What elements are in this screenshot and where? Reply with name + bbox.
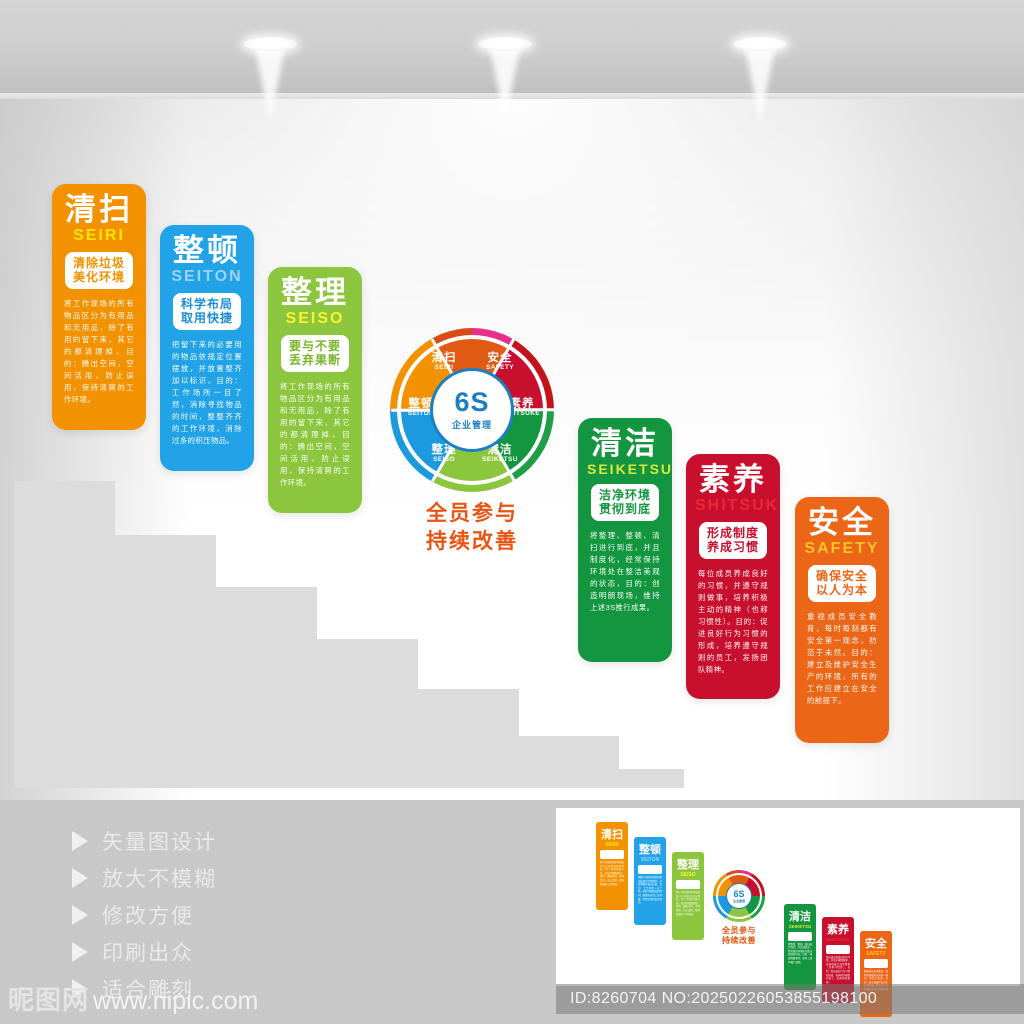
thumb-slogan <box>864 959 888 968</box>
stair-step <box>519 736 619 788</box>
triangle-bullet-icon <box>72 905 88 925</box>
card-title-en: SHITSUKE <box>695 497 771 515</box>
thumb-title-cn: 安全 <box>865 938 887 950</box>
card-title-cn: 整顿 <box>169 235 245 267</box>
stair-step <box>216 587 317 788</box>
thumb-title-en: SEISO <box>674 873 702 878</box>
wheel-center-title: 6S <box>454 389 489 416</box>
wheel-caption: 全员参与 持续改善 <box>390 500 554 555</box>
card-title-cn: 整理 <box>277 277 353 309</box>
card-body-text: 将工作现场的所有物品区分为有用品和无用品，除了有用的留下来，其它的都清理掉，目的… <box>277 381 353 489</box>
thumb-title-en: SEITON <box>636 858 664 863</box>
thumb-body: 将工作现场的所有物品区分为有用品和无用品，除了有用的留下来，其它的都清理掉，目的… <box>674 891 702 916</box>
thumb-wheel-caption: 全员参与 持续改善 <box>704 926 774 947</box>
stair-step <box>115 535 216 788</box>
card-body-text: 每位成员养成良好的习惯，并遵守规则做事，培养积极主动的精神（也称习惯性）。目的：… <box>695 568 771 676</box>
card-slogan-line2: 贯彻到底 <box>599 502 651 516</box>
feature-label: 印刷出众 <box>102 937 194 967</box>
card-slogan-line1: 要与不要 <box>289 339 341 353</box>
ceiling-spotlight-2 <box>478 37 532 51</box>
card-body-text: 把留下来的必要用的物品依规定位置摆放，并放置整齐加以标识，目的：工作场所一目了然… <box>169 339 245 447</box>
image-id-bar: ID:8260704 NO:20250226053855198100 <box>556 984 1024 1014</box>
thumb-wheel-center-subtitle: 企业管理 <box>733 899 745 903</box>
spotlight-beam-1 <box>254 44 286 122</box>
thumb-caption-line2: 持续改善 <box>704 936 774 946</box>
thumb-slogan <box>638 865 662 874</box>
wheel-caption-line1: 全员参与 <box>390 500 554 528</box>
card-slogan: 洁净环境 贯彻到底 <box>591 484 659 521</box>
thumb-body: 将整理、整顿、清扫进行到底，并且制度化，经常保持环境处在整洁美观的状态，目的：创… <box>786 943 814 965</box>
thumb-card-seiton: 整顿 SEITON 把留下来的必要用的物品依规定位置摆放，并放置整齐加以标识，目… <box>634 837 666 925</box>
thumb-card-seiketsu: 清洁 SEIKETSU 将整理、整顿、清扫进行到底，并且制度化，经常保持环境处在… <box>784 904 816 990</box>
thumb-title-en: SEIKETSU <box>786 925 814 930</box>
card-slogan-line2: 取用快捷 <box>181 311 233 325</box>
card-title-cn: 安全 <box>804 507 880 539</box>
wall-mockup-scene: 清扫 SEIRI 清除垃圾 美化环境 将工作现场的所有物品区分为有用品和无用品，… <box>0 0 1024 800</box>
card-slogan-line1: 确保安全 <box>816 569 868 583</box>
card-slogan-line2: 美化环境 <box>73 270 125 284</box>
list-item: 矢量图设计 <box>72 822 217 859</box>
card-body-text: 将工作现场的所有物品区分为有用品和无用品，除了有用的留下来，其它的都清理掉，目的… <box>61 298 137 406</box>
watermark: 昵图网 www.nipic.com <box>8 980 258 1017</box>
wheel-segment-label-cn: 清扫 <box>416 352 472 364</box>
card-slogan: 形成制度 养成习惯 <box>699 522 767 559</box>
watermark-site-name: 昵图网 <box>8 980 89 1017</box>
thumb-body: 将工作现场的所有物品区分为有用品和无用品，除了有用的留下来，其它的都清理掉，目的… <box>598 861 626 886</box>
card-slogan-line2: 养成习惯 <box>707 540 759 554</box>
thumbnail-preview[interactable]: 清扫 SEIRI 将工作现场的所有物品区分为有用品和无用品，除了有用的留下来，其… <box>556 808 1020 986</box>
wheel-caption-line2: 持续改善 <box>390 528 554 556</box>
card-shitsuke[interactable]: 素养 SHITSUKE 形成制度 养成习惯 每位成员养成良好的习惯，并遵守规则做… <box>686 454 780 699</box>
triangle-bullet-icon <box>72 831 88 851</box>
card-slogan-line2: 丢弃果断 <box>289 353 341 367</box>
card-slogan: 科学布局 取用快捷 <box>173 293 241 330</box>
thumb-title-cn: 整顿 <box>639 844 661 856</box>
card-title-cn: 清洁 <box>587 428 663 460</box>
thumb-title-en: SAFETY <box>862 952 890 957</box>
thumb-title-cn: 素养 <box>827 924 849 936</box>
ceiling-spotlight-1 <box>243 37 297 51</box>
list-item: 放大不模糊 <box>72 859 217 896</box>
card-title-en: SEIKETSU <box>587 461 663 477</box>
card-slogan-line1: 清除垃圾 <box>73 256 125 270</box>
card-slogan-line2: 以人为本 <box>816 583 868 597</box>
stair-step <box>418 689 519 788</box>
card-slogan: 确保安全 以人为本 <box>808 565 876 602</box>
thumb-body: 把留下来的必要用的物品依规定位置摆放，并放置整齐加以标识，目的：工作场所一目了然… <box>636 876 664 905</box>
card-title-en: SEIRI <box>61 227 137 245</box>
wheel-center-subtitle: 企业管理 <box>452 418 492 431</box>
triangle-bullet-icon <box>72 942 88 962</box>
card-seiton[interactable]: 整顿 SEITON 科学布局 取用快捷 把留下来的必要用的物品依规定位置摆放，并… <box>160 225 254 471</box>
watermark-url: www.nipic.com <box>93 987 258 1016</box>
card-safety[interactable]: 安全 SAFETY 确保安全 以人为本 重视成员安全教育，每时每刻都有安全第一观… <box>795 497 889 743</box>
ceiling-spotlight-3 <box>733 37 787 51</box>
thumb-title-cn: 整理 <box>677 859 699 871</box>
thumb-slogan <box>826 945 850 954</box>
screenshot-root: 清扫 SEIRI 清除垃圾 美化环境 将工作现场的所有物品区分为有用品和无用品，… <box>0 0 1024 1024</box>
list-item: 印刷出众 <box>72 933 217 970</box>
image-id-text: ID:8260704 NO:20250226053855198100 <box>570 990 877 1008</box>
card-seiketsu[interactable]: 清洁 SEIKETSU 洁净环境 贯彻到底 将整理、整顿、清扫进行到底，并且制度… <box>578 418 672 662</box>
card-slogan: 清除垃圾 美化环境 <box>65 252 133 289</box>
card-seiri[interactable]: 清扫 SEIRI 清除垃圾 美化环境 将工作现场的所有物品区分为有用品和无用品，… <box>52 184 146 430</box>
thumb-slogan <box>788 932 812 941</box>
feature-label: 矢量图设计 <box>102 826 217 856</box>
thumb-wheel-center-title: 6S <box>733 890 744 899</box>
card-slogan-line1: 洁净环境 <box>599 488 651 502</box>
card-body-text: 重视成员安全教育，每时每刻都有安全第一观念，防范于未然。目的：建立及维护安全生产… <box>804 611 880 707</box>
feature-label: 修改方便 <box>102 900 194 930</box>
card-title-cn: 清扫 <box>61 194 137 226</box>
spotlight-beam-2 <box>489 44 521 122</box>
thumb-title-cn: 清扫 <box>601 829 623 841</box>
feature-label: 放大不模糊 <box>102 863 217 893</box>
thumb-wheel-hub: 6S 企业管理 <box>726 883 752 909</box>
card-title-en: SEITON <box>169 268 245 286</box>
spotlight-beam-3 <box>744 44 776 122</box>
wheel-center-hub: 6S 企业管理 <box>430 368 514 452</box>
card-body-text: 将整理、整顿、清扫进行到底，并且制度化，经常保持环境处在整洁美观的状态，目的：创… <box>587 530 663 614</box>
thumb-title-en: SHITSUKE <box>824 938 852 943</box>
card-title-cn: 素养 <box>695 464 771 496</box>
thumb-slogan <box>600 850 624 859</box>
thumb-title-en: SEIRI <box>598 843 626 848</box>
thumb-six-s-wheel: 6S 企业管理 <box>713 870 765 922</box>
six-s-wheel[interactable]: 清扫 SEIRI 安全 SAFETY 素养 SHITSUKE 清洁 SEIKET… <box>390 328 554 492</box>
card-title-en: SAFETY <box>804 540 880 558</box>
card-seiso[interactable]: 整理 SEISO 要与不要 丢弃果断 将工作现场的所有物品区分为有用品和无用品，… <box>268 267 362 513</box>
thumb-body: 每位成员养成良好的习惯，并遵守规则做事，培养积极主动的精神（也称习惯性）。目的：… <box>824 956 852 985</box>
triangle-bullet-icon <box>72 868 88 888</box>
thumb-title-cn: 清洁 <box>789 911 811 923</box>
thumb-slogan <box>676 880 700 889</box>
wheel-segment-label-en: SEISO <box>416 457 472 464</box>
stair-step <box>619 769 684 788</box>
card-title-en: SEISO <box>277 310 353 328</box>
stair-step <box>14 481 115 788</box>
thumb-card-seiso: 整理 SEISO 将工作现场的所有物品区分为有用品和无用品，除了有用的留下来，其… <box>672 852 704 940</box>
thumb-caption-line1: 全员参与 <box>704 926 774 936</box>
card-slogan: 要与不要 丢弃果断 <box>281 335 349 372</box>
stair-step <box>317 639 418 788</box>
thumb-card-seiri: 清扫 SEIRI 将工作现场的所有物品区分为有用品和无用品，除了有用的留下来，其… <box>596 822 628 910</box>
card-slogan-line1: 科学布局 <box>181 297 233 311</box>
wheel-segment-label-cn: 安全 <box>472 352 528 364</box>
wheel-segment-label-en: SEIKETSU <box>472 457 528 464</box>
card-slogan-line1: 形成制度 <box>707 526 759 540</box>
list-item: 修改方便 <box>72 896 217 933</box>
